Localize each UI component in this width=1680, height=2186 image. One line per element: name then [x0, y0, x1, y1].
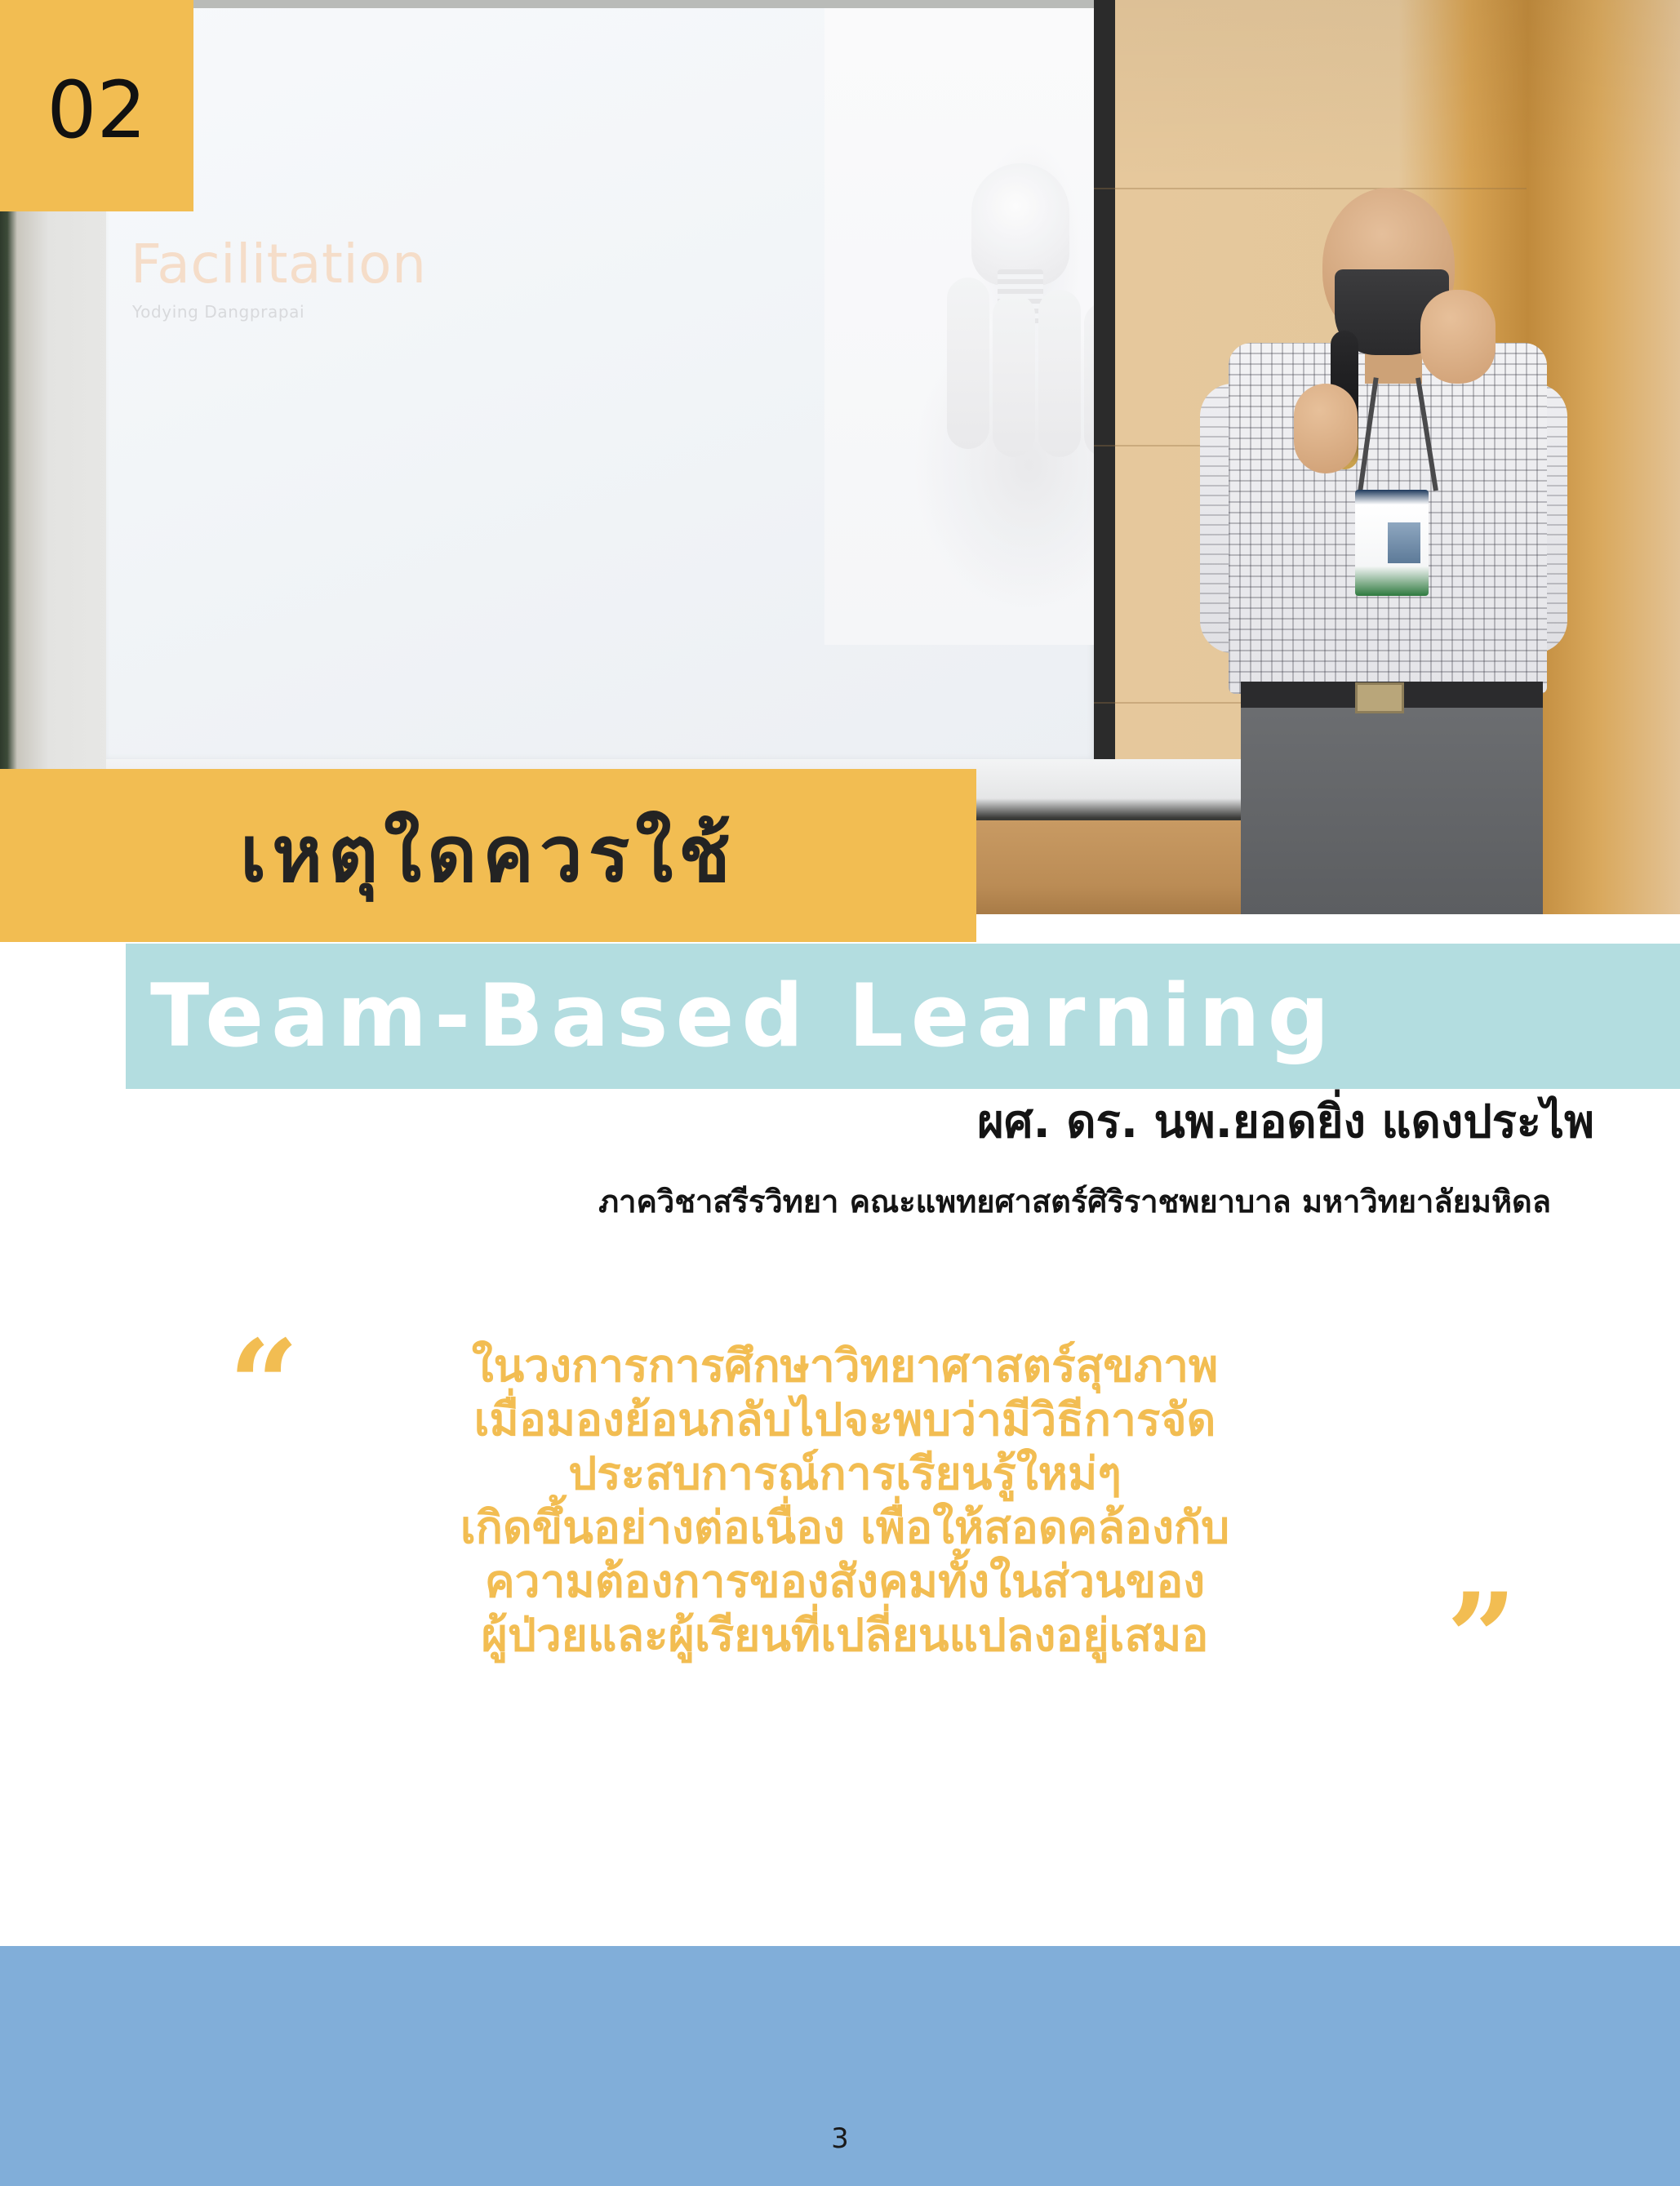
section-number-text: 02	[0, 71, 193, 149]
id-badge-photo	[1388, 522, 1420, 563]
quote-line: ในวงการการศึกษาวิทยาศาสตร์สุขภาพ	[139, 1339, 1551, 1393]
quote-line: ผู้ป่วยและผู้เรียนที่เปลี่ยนแปลงอยู่เสมอ	[139, 1608, 1551, 1662]
wood-seam	[1094, 188, 1527, 189]
lightbulb-icon	[971, 163, 1069, 286]
author-name: ผศ. ดร. นพ.ยอดยิ่ง แดงประไพ	[977, 1094, 1594, 1151]
slide-subtitle-text: Yodying Dangprapai	[132, 302, 304, 322]
hand-finger	[1038, 290, 1081, 457]
slide-title-text: Facilitation	[131, 233, 426, 295]
hand-finger	[947, 278, 989, 449]
pull-quote: “ ในวงการการศึกษาวิทยาศาสตร์สุขภาพ เมื่อ…	[139, 1339, 1551, 1662]
quote-line: เกิดขึ้นอย่างต่อเนื่อง เพื่อให้สอดคล้องก…	[139, 1500, 1551, 1554]
hand-finger	[993, 294, 1035, 457]
speaker-trousers	[1241, 686, 1543, 914]
thai-heading-banner: เหตุใดควรใช้	[0, 769, 976, 942]
quote-close-mark: ”	[1447, 1577, 1517, 1699]
screen-frame-top	[106, 0, 1094, 8]
author-affiliation: ภาควิชาสรีรวิทยา คณะแพทยศาสตร์ศิริราชพยา…	[598, 1182, 1551, 1222]
page-number: 3	[0, 2122, 1680, 2155]
thai-heading-text: เหตุใดควรใช้	[240, 817, 736, 894]
quote-line: ความต้องการของสังคมทั้งในส่วนของ	[139, 1554, 1551, 1608]
belt-buckle	[1355, 682, 1404, 713]
quote-open-mark: “	[229, 1324, 299, 1446]
english-heading-text: Team-Based Learning	[126, 973, 1337, 1060]
quote-line: เมื่อมองย้อนกลับไปจะพบว่ามีวิธีการจัด	[139, 1393, 1551, 1446]
speaker-mic-hand	[1294, 384, 1358, 473]
english-heading-banner: Team-Based Learning	[126, 944, 1680, 1089]
speaker-raised-hand	[1420, 290, 1496, 384]
quote-line: ประสบการณ์การเรียนรู้ใหม่ๆ	[139, 1446, 1551, 1500]
section-number-badge: 02	[0, 0, 193, 211]
